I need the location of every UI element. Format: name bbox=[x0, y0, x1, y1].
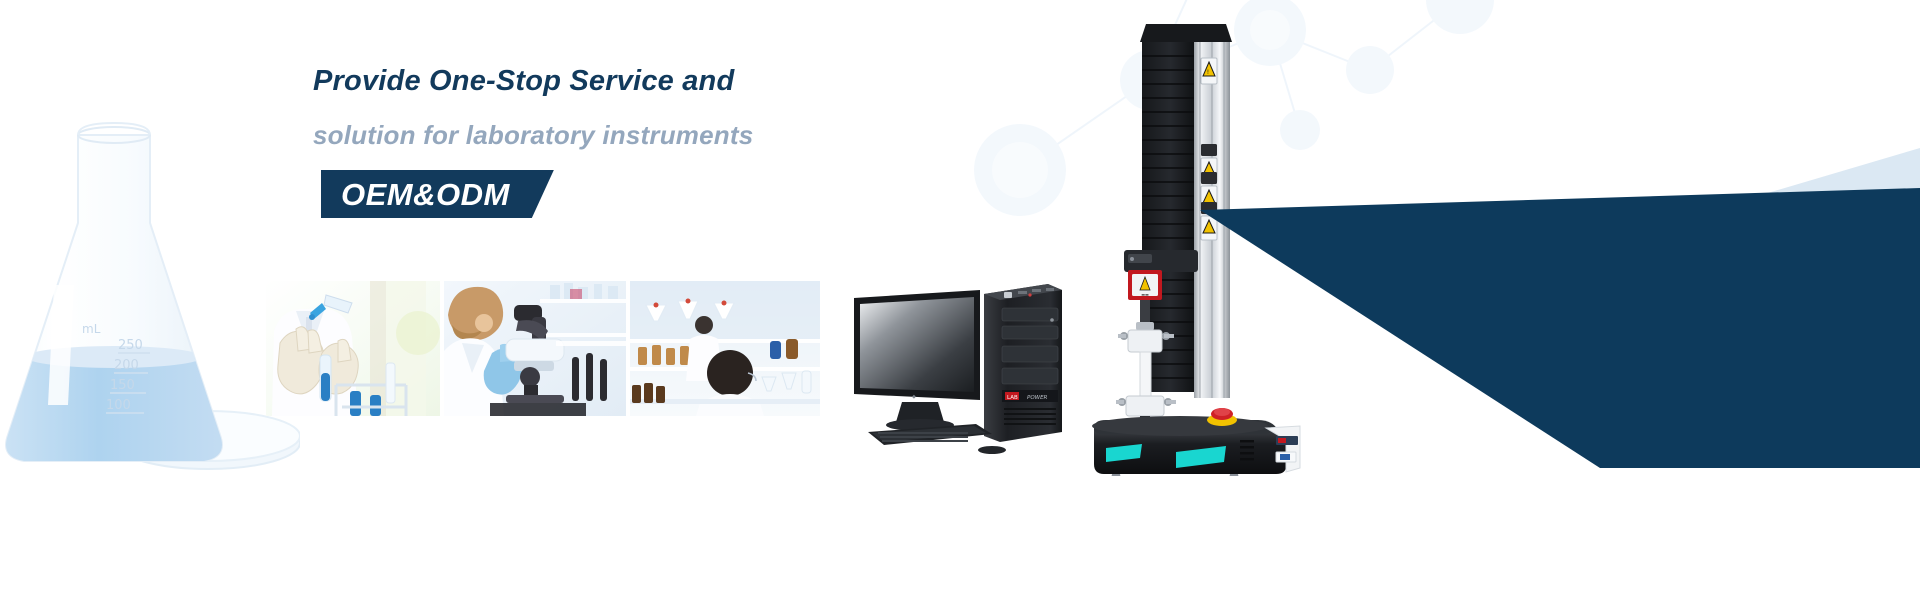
arrow-graphics bbox=[1200, 128, 1920, 468]
badge-row: OEM&ODM bbox=[313, 170, 1073, 218]
warning-label: ! bbox=[1201, 58, 1217, 84]
photo-microscope bbox=[444, 281, 626, 416]
oem-odm-badge: OEM&ODM bbox=[321, 170, 554, 218]
svg-text:250: 250 bbox=[118, 338, 143, 353]
svg-text:mL: mL bbox=[82, 322, 101, 336]
svg-text:150: 150 bbox=[110, 378, 135, 393]
desktop-computer: ◆ bbox=[852, 282, 1092, 457]
lcd-monitor: ◆ bbox=[854, 290, 980, 431]
headline-line-2: solution for laboratory instruments bbox=[313, 112, 1073, 158]
photo-pipetting bbox=[266, 281, 440, 416]
dark-arrow-shape bbox=[1200, 188, 1920, 468]
svg-text:LAB: LAB bbox=[1007, 395, 1018, 401]
headline-block: Provide One-Stop Service and solution fo… bbox=[313, 58, 1073, 218]
promo-banner: 250 200 150 100 mL Provide One-Stop Serv… bbox=[0, 0, 1920, 597]
photo-lab-team bbox=[630, 281, 820, 416]
headline-line-1: Provide One-Stop Service and bbox=[313, 58, 1073, 104]
svg-text:◆: ◆ bbox=[912, 394, 916, 400]
svg-text:!: ! bbox=[1207, 69, 1209, 76]
tower-case: LAB POWER bbox=[984, 284, 1062, 442]
svg-text:▬▬: ▬▬ bbox=[1141, 292, 1149, 297]
svg-text:POWER: POWER bbox=[1027, 395, 1048, 401]
lab-photo-strip bbox=[266, 281, 820, 416]
svg-text:100: 100 bbox=[106, 398, 131, 413]
crosshead bbox=[1124, 250, 1198, 272]
svg-text:200: 200 bbox=[114, 358, 139, 373]
erlenmeyer-flask: 250 200 150 100 mL bbox=[0, 105, 300, 505]
load-cell: ▬▬ bbox=[1128, 270, 1162, 300]
